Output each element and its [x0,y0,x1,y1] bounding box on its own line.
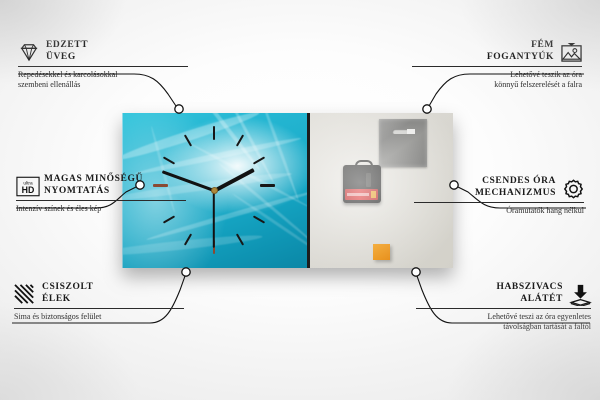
svg-text:HD: HD [22,184,35,194]
callout-title: EDZETT ÜVEG [46,40,88,63]
divider [412,66,582,67]
divider [414,202,584,203]
callout-title: FÉM FOGANTYÚK [487,40,554,63]
callout-description: Lehetővé teszi az óra egyenletes távolsá… [416,312,591,332]
clock-tick [260,184,275,187]
callout-header: CSISZOLT ÉLEK [14,282,184,305]
callout-header: CSENDES ÓRA MECHANIZMUS [414,176,584,199]
clock-tick [163,215,175,223]
clock-hand-second [213,190,215,247]
callout-title: HABSZIVACS ALÁTÉT [496,282,563,305]
callout-description: Lehetővé teszik az óra könnyű felszerelé… [412,70,582,90]
callout-foam-pad: HABSZIVACS ALÁTÉT Lehetővé teszi az óra … [416,282,591,332]
callout-tempered-glass: EDZETT ÜVEG Repedésekkel és karcolásokka… [18,40,188,90]
divider [416,308,591,309]
callout-title: CSISZOLT ÉLEK [42,282,93,305]
callout-polished-edges: CSISZOLT ÉLEK Sima és biztonságos felüle… [14,282,184,322]
diagonal-stripes-icon [14,284,36,304]
picture-frame-hanger-icon [560,42,582,62]
battery-label-strip [347,193,369,196]
diamond-icon [18,42,40,62]
callout-description: Óramutatók hang nélkül [414,206,584,216]
callout-title: CSENDES ÓRA MECHANIZMUS [475,176,556,199]
callout-header: EDZETT ÜVEG [18,40,188,63]
callout-silent-mechanism: CSENDES ÓRA MECHANIZMUS Óramutatók hang … [414,176,584,216]
callout-title: MAGAS MINŐSÉGŰ NYOMTATÁS [44,174,143,197]
gear-icon [562,178,584,198]
divider [18,66,188,67]
mechanism-shaft [366,173,371,187]
callout-header: FÉM FOGANTYÚK [412,40,582,63]
callout-metal-hangers: FÉM FOGANTYÚK Lehetővé teszik az óra kön… [412,40,582,90]
foam-pad [373,244,390,260]
clock-tick [213,126,215,140]
hanger-slot [392,129,415,134]
callout-description: Repedésekkel és karcolásokkal szembeni e… [18,70,188,90]
mechanism-hook [355,160,373,170]
infographic-canvas: EDZETT ÜVEG Repedésekkel és karcolásokka… [0,0,600,400]
battery-terminal [371,191,376,198]
hanger-plate [379,119,427,167]
callout-header: HABSZIVACS ALÁTÉT [416,282,591,305]
callout-header: ultra HD MAGAS MINŐSÉGŰ NYOMTATÁS [16,174,186,197]
foam-pad-arrow-icon [569,284,591,304]
battery [345,189,378,200]
clock-center-pin [211,187,218,194]
clock-mechanism [343,165,381,203]
divider [14,308,184,309]
callout-description: Intenzív színek és éles kép [16,204,186,214]
ultra-hd-icon: ultra HD [16,176,38,196]
callout-high-quality-print: ultra HD MAGAS MINŐSÉGŰ NYOMTATÁS Intenz… [16,174,186,214]
callout-description: Sima és biztonságos felület [14,312,184,322]
divider [16,200,186,201]
